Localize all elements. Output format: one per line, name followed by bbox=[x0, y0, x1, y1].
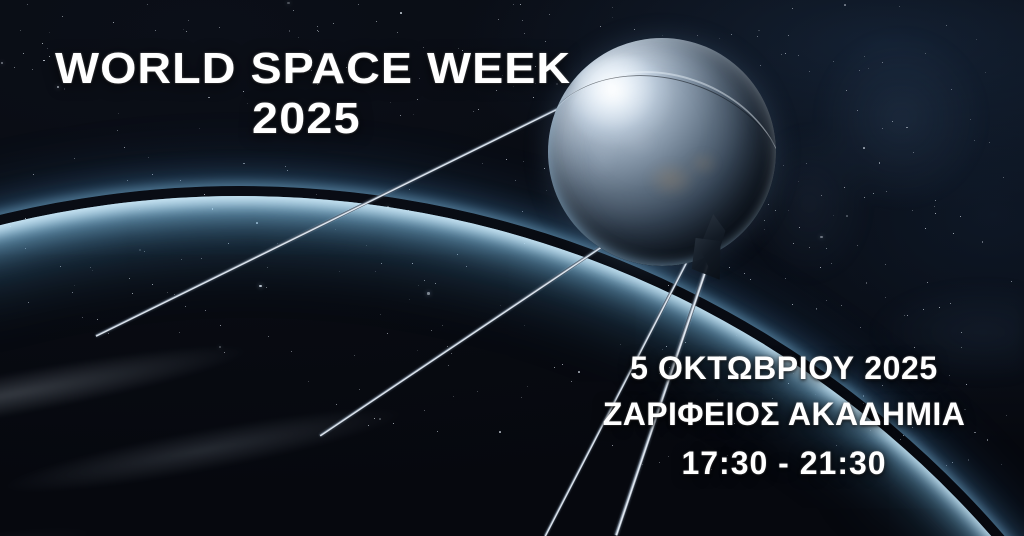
page-title-line-2: 2025 bbox=[252, 97, 361, 141]
page-title-line-1: WORLD SPACE WEEK bbox=[55, 47, 571, 91]
event-date: 5 ΟΚΤΩΒΡΙΟΥ 2025 bbox=[560, 352, 1008, 384]
event-venue: ΖΑΡΙΦΕΙΟΣ ΑΚΑΔΗΜΙΑ bbox=[560, 398, 1008, 430]
poster-canvas: WORLD SPACE WEEK 2025 5 ΟΚΤΩΒΡΙΟΥ 2025 Ζ… bbox=[0, 0, 1024, 536]
event-time: 17:30 - 21:30 bbox=[560, 447, 1008, 479]
event-details-block: 5 ΟΚΤΩΒΡΙΟΥ 2025 ΖΑΡΙΦΕΙΟΣ ΑΚΑΔΗΜΙΑ 17:3… bbox=[560, 352, 1008, 479]
